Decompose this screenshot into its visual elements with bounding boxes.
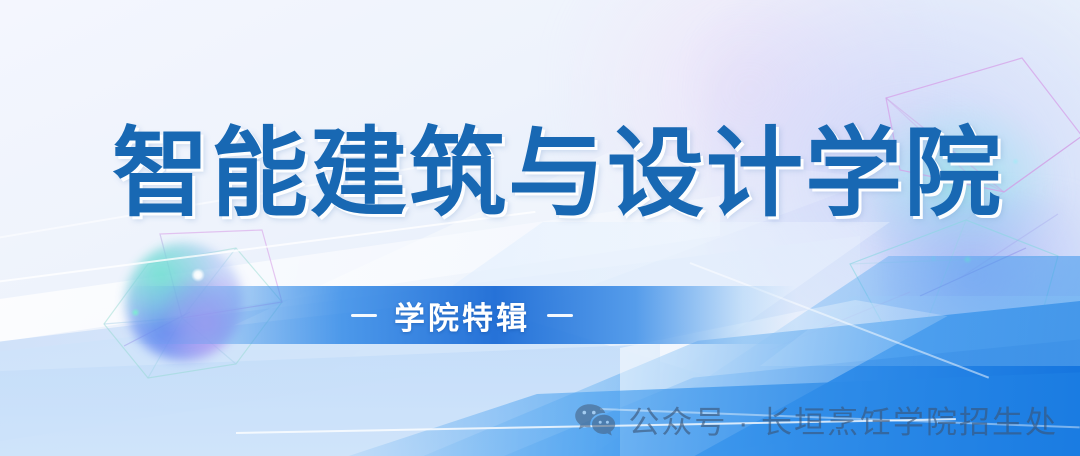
page-title: 智能建筑与设计学院	[112, 124, 1012, 225]
sparkle-4	[1012, 158, 1019, 165]
sparkle-1	[191, 268, 205, 282]
subtitle-label: 学院特辑	[394, 293, 530, 338]
watermark-label: 公众号 · 长垣烹饪学院招生处	[628, 397, 1058, 442]
wechat-icon	[574, 403, 616, 437]
watermark: 公众号 · 长垣烹饪学院招生处	[574, 397, 1058, 442]
college-banner: 智能建筑与设计学院 学院特辑 公众号 · 长垣烹饪学院招生处	[0, 0, 1080, 456]
dash-left-icon	[351, 314, 377, 317]
dash-right-icon	[547, 314, 573, 317]
subtitle: 学院特辑	[128, 286, 796, 344]
